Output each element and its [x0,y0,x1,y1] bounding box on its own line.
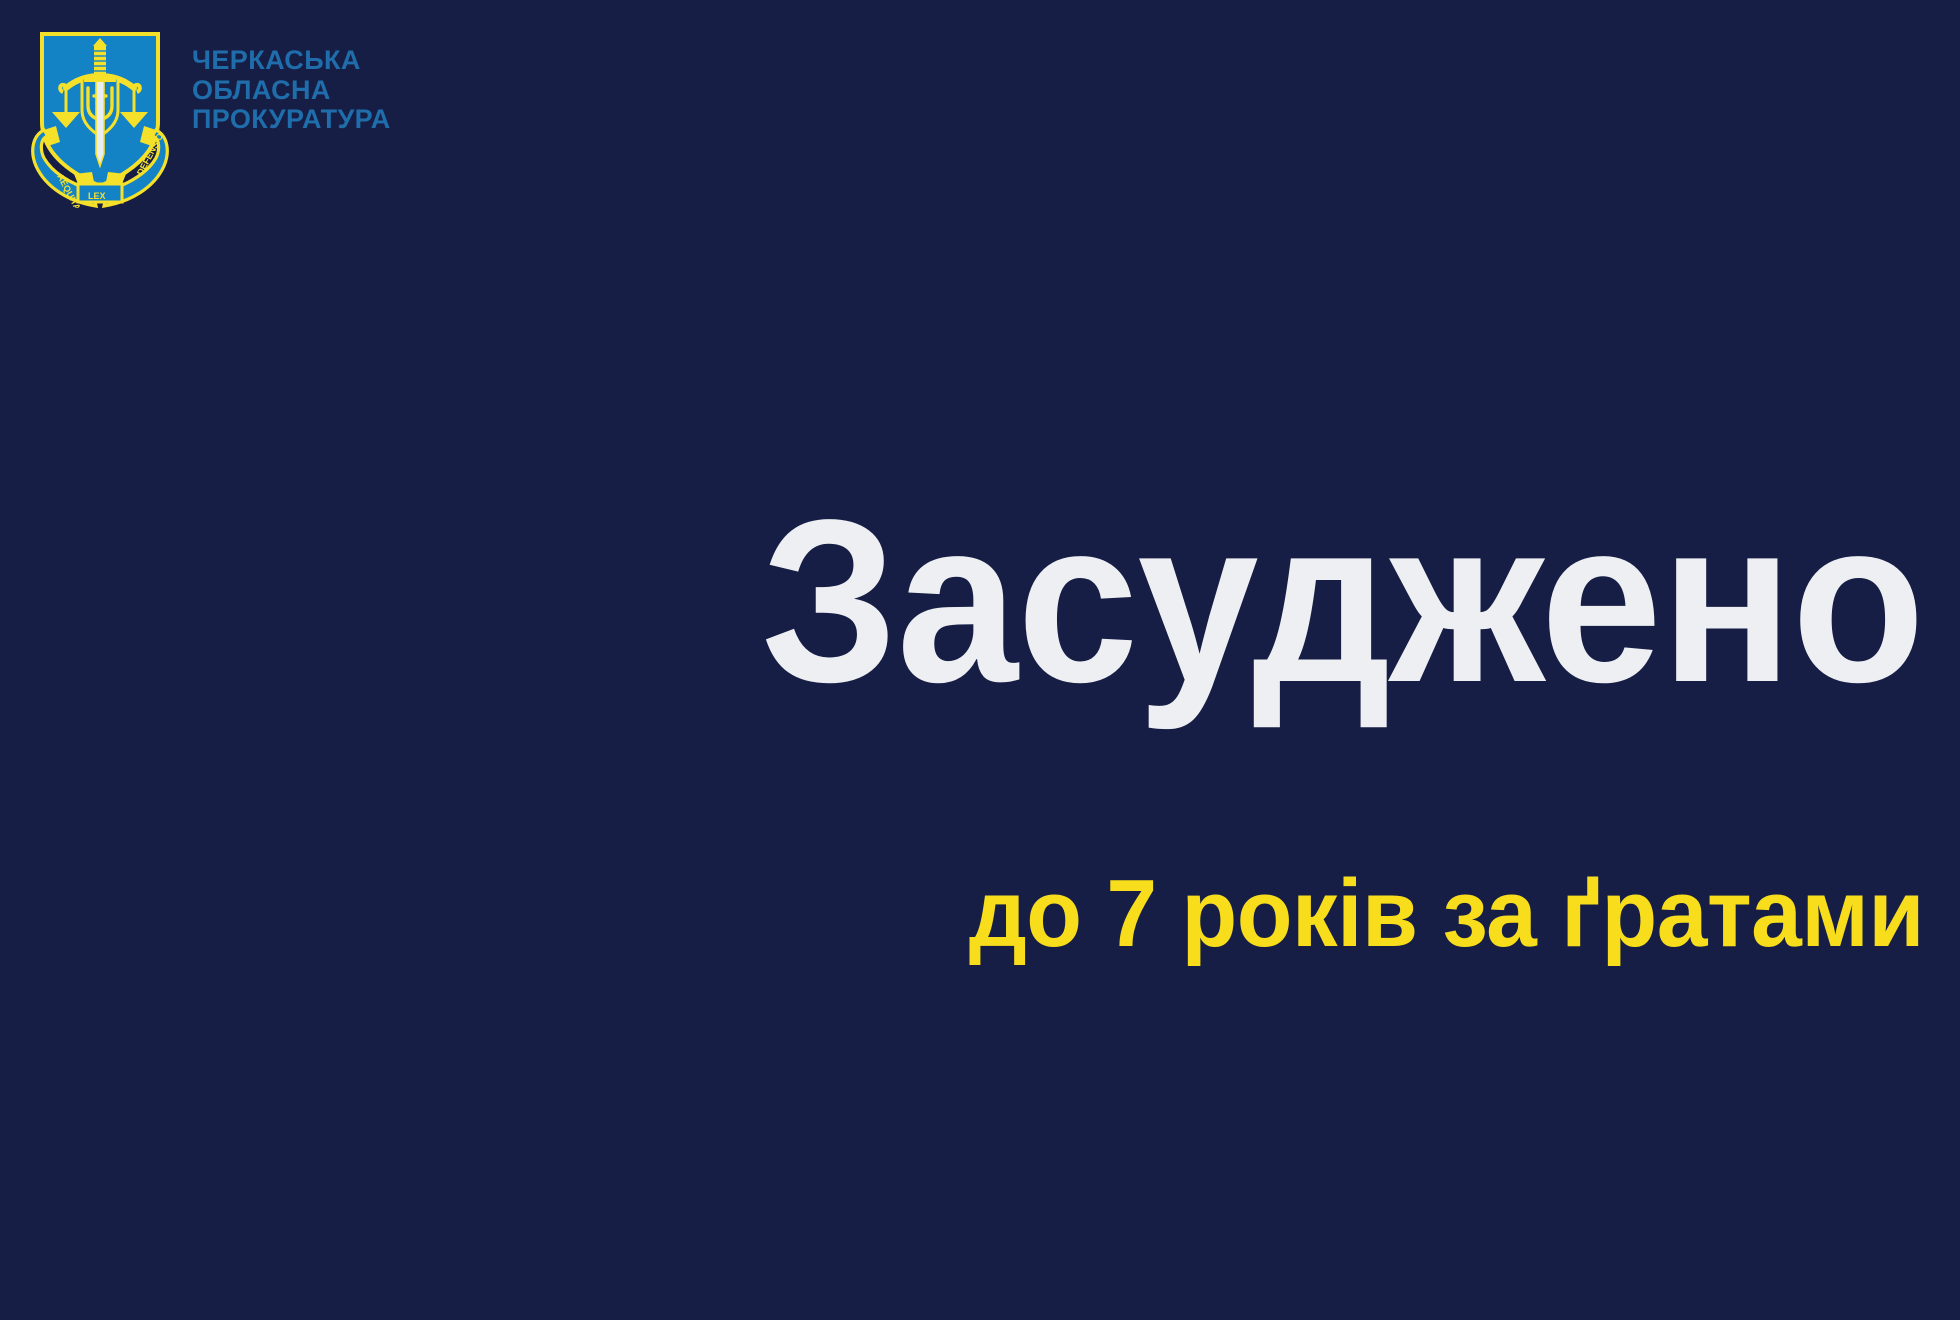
banner-subline: до 7 років за ґратами [96,866,1924,962]
banner-headline: Засуджено [115,486,1924,718]
banner-canvas: AEQUITAS LEX DEFENSIO [0,0,1960,1320]
organization-name-line-2: ОБЛАСНА [192,76,391,106]
emblem-motto-center: LEX [88,191,106,201]
organization-name-line-1: ЧЕРКАСЬКА [192,46,391,76]
prosecutor-office-emblem-icon: AEQUITAS LEX DEFENSIO [30,26,170,208]
organization-name: ЧЕРКАСЬКА ОБЛАСНА ПРОКУРАТУРА [192,46,391,135]
organization-name-line-3: ПРОКУРАТУРА [192,105,391,135]
organization-logo: AEQUITAS LEX DEFENSIO [30,26,391,208]
